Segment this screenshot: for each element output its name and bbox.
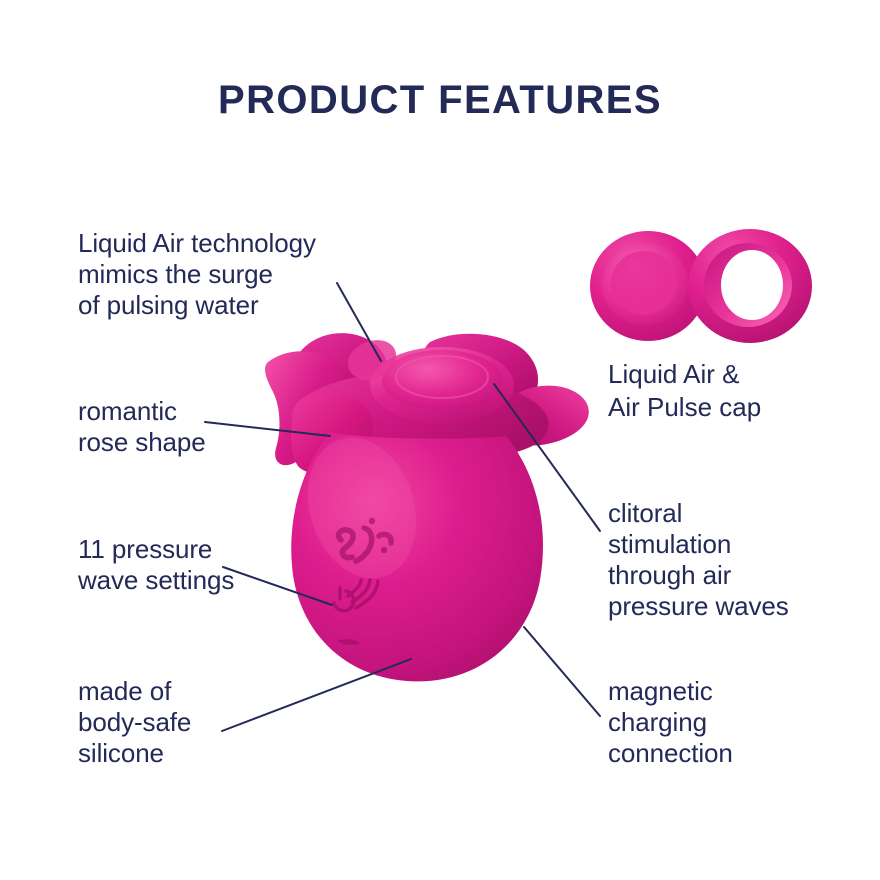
leader-pressure-wave-settings [223,567,332,605]
leader-clitoral-stimulation [494,384,600,531]
leader-lines [0,0,880,880]
leader-romantic-rose-shape [205,422,330,436]
page-title: PRODUCT FEATURES [0,78,880,123]
leader-magnetic-charging [524,627,600,716]
leader-body-safe-silicone [222,659,411,731]
infographic-canvas: PRODUCT FEATURES [0,0,880,880]
leader-liquid-air-technology [337,283,381,361]
